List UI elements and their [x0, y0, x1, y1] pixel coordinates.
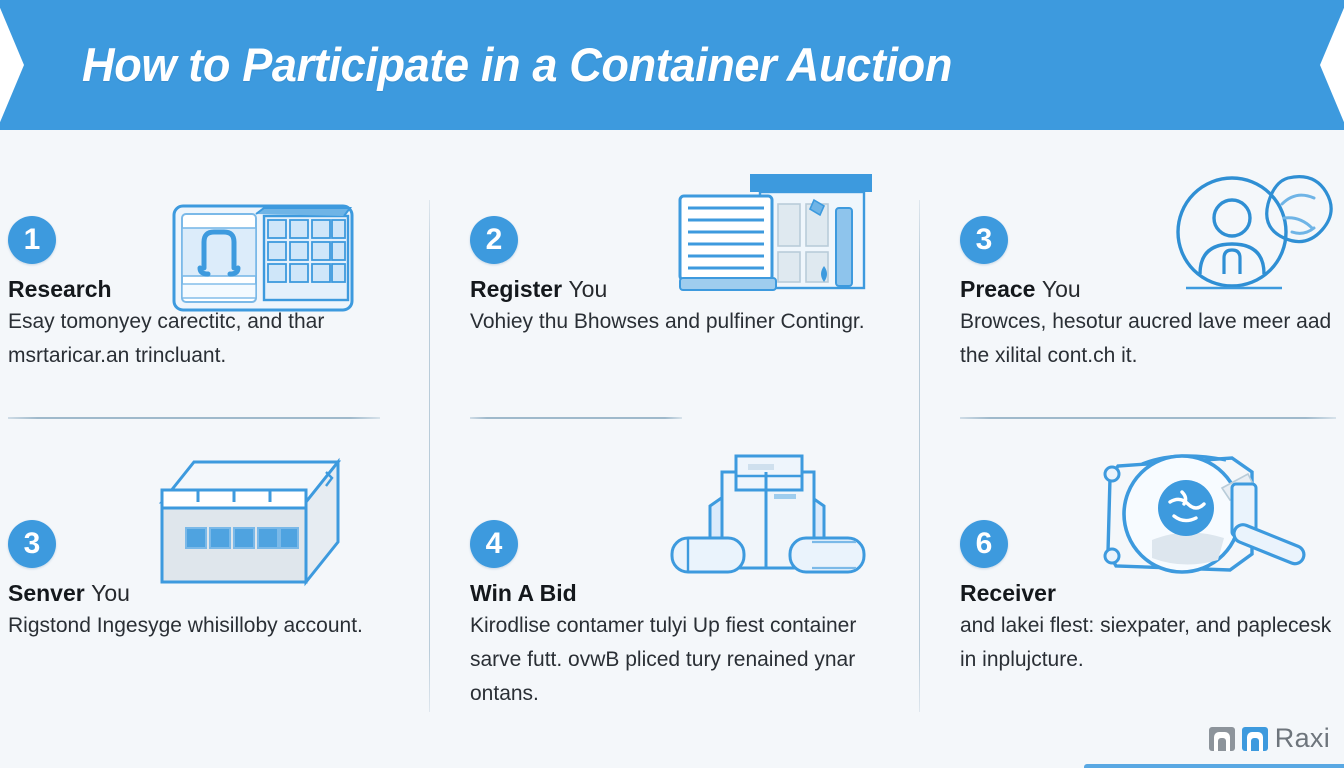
- step-title-main: Receiver: [960, 580, 1056, 606]
- step-title-suffix: You: [568, 276, 607, 302]
- step-title-main: Win A Bid: [470, 580, 577, 606]
- step-number-badge: 1: [8, 216, 56, 264]
- column-divider-1: [429, 200, 430, 712]
- step-description: Esay tomonyey carectitc, and thar msrtar…: [8, 305, 408, 373]
- brand-name: Raxi: [1275, 723, 1330, 754]
- brand-logo[interactable]: Raxi: [1209, 723, 1330, 754]
- step-title: Receiver: [960, 580, 1344, 608]
- gray-gate-icon: [1209, 727, 1235, 751]
- step-card-4: 3 Senver You Rigstond Ingesyge whisillob…: [0, 430, 420, 730]
- footer-accent-line: [1084, 764, 1344, 768]
- step-title: Win A Bid: [470, 580, 870, 608]
- step-card-6: 6 Receiver and lakei flest: siexpater, a…: [952, 430, 1344, 730]
- step-title: Senver You: [8, 580, 363, 608]
- ribbon-notch-left-icon: [0, 3, 24, 127]
- step-card-3: 3 Preace You Browces, hesotur aucred lav…: [952, 160, 1344, 420]
- page-title: How to Participate in a Container Auctio…: [82, 41, 952, 89]
- step-title-suffix: You: [91, 580, 130, 606]
- step-description: Vohiey thu Bhowses and pulfiner Contingr…: [470, 305, 865, 339]
- step-title-main: Senver: [8, 580, 85, 606]
- step-title: Register You: [470, 276, 865, 304]
- step-description: and lakei flest: siexpater, and papleces…: [960, 609, 1344, 677]
- step-title: Research: [8, 276, 408, 304]
- steps-grid: 1 Research Esay tomonyey carectitc, and …: [0, 130, 1344, 768]
- step-title-main: Register: [470, 276, 562, 302]
- ribbon-notch-right-icon: [1320, 3, 1344, 127]
- step-title-main: Preace: [960, 276, 1035, 302]
- step-card-2: 2 Register You Vohiey thu Bhowses and pu…: [462, 160, 902, 420]
- header-banner: How to Participate in a Container Auctio…: [0, 0, 1344, 130]
- step-number-badge: 3: [960, 216, 1008, 264]
- step-description: Browces, hesotur aucred lave meer aad th…: [960, 305, 1344, 373]
- step-description: Rigstond Ingesyge whisilloby account.: [8, 609, 363, 643]
- step-number-badge: 6: [960, 520, 1008, 568]
- blue-gate-icon: [1242, 727, 1268, 751]
- step-card-5: 4 Win A Bid Kirodlise contamer tulyi Up …: [462, 430, 902, 730]
- step-number-badge: 3: [8, 520, 56, 568]
- step-description: Kirodlise contamer tulyi Up fiest contai…: [470, 609, 870, 711]
- step-number-badge: 2: [470, 216, 518, 264]
- column-divider-2: [919, 200, 920, 712]
- step-card-1: 1 Research Esay tomonyey carectitc, and …: [0, 160, 420, 420]
- step-title-suffix: You: [1042, 276, 1081, 302]
- step-title-main: Research: [8, 276, 112, 302]
- step-number-badge: 4: [470, 520, 518, 568]
- step-title: Preace You: [960, 276, 1344, 304]
